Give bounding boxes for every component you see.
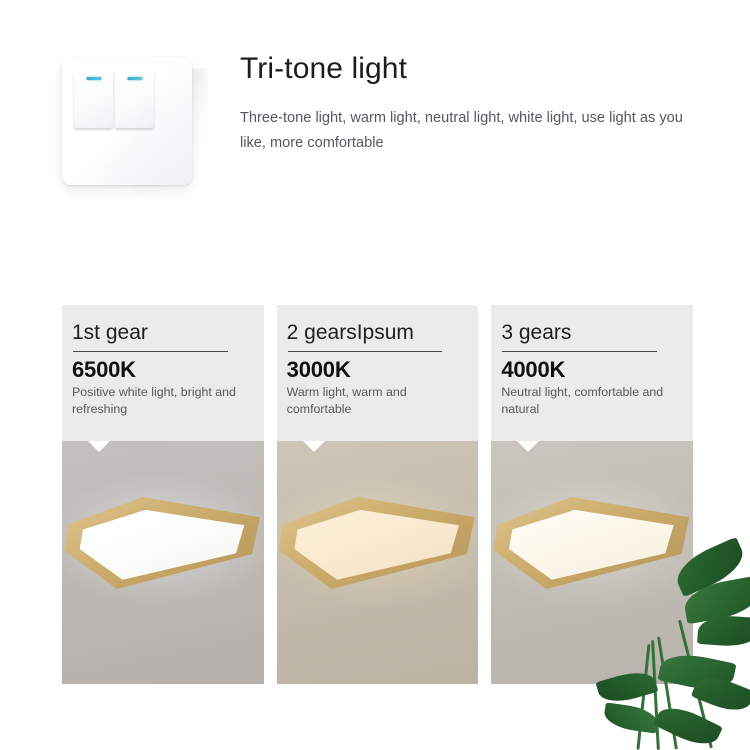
tone-panel-2-description: Warm light, warm and comfortable — [287, 384, 465, 417]
switch-rocker-left — [74, 70, 113, 128]
plant-decoration — [598, 548, 750, 750]
divider — [502, 351, 657, 352]
tone-panel-3-description: Neutral light, comfortable and natural — [501, 384, 679, 417]
ceiling-lamp-icon — [279, 497, 475, 589]
plant-leaf — [603, 702, 660, 733]
tone-panel-1: 1st gear 6500K Positive white light, bri… — [62, 305, 264, 684]
divider — [73, 351, 228, 352]
triangle-pointer-icon — [303, 441, 325, 452]
tone-panel-2-photo — [277, 441, 479, 684]
triangle-pointer-icon — [88, 441, 110, 452]
tone-panel-2-header: 2 gearsIpsum 3000K Warm light, warm and … — [277, 305, 479, 441]
ceiling-lamp-icon — [64, 497, 260, 589]
led-indicator-icon — [127, 77, 142, 80]
page-title: Tri-tone light — [240, 52, 407, 86]
tone-panel-2-kelvin: 3000K — [287, 356, 465, 383]
divider — [288, 351, 443, 352]
tone-panel-3-kelvin: 4000K — [501, 356, 679, 383]
wall-switch-image — [48, 48, 223, 198]
led-indicator-icon — [86, 77, 101, 80]
tone-panel-1-title: 1st gear — [72, 319, 250, 346]
plant-stem — [651, 640, 660, 750]
infographic-canvas: Tri-tone light Three-tone light, warm li… — [0, 0, 750, 750]
tone-panel-2: 2 gearsIpsum 3000K Warm light, warm and … — [277, 305, 479, 684]
tone-panel-1-photo — [62, 441, 264, 684]
tone-panel-3-header: 3 gears 4000K Neutral light, comfortable… — [491, 305, 693, 441]
triangle-pointer-icon — [517, 441, 539, 452]
tone-panel-2-title: 2 gearsIpsum — [287, 319, 465, 346]
page-subtitle: Three-tone light, warm light, neutral li… — [240, 106, 688, 156]
plant-leaf — [653, 699, 723, 750]
tone-panel-1-kelvin: 6500K — [72, 356, 250, 383]
plant-leaf — [596, 667, 659, 708]
tone-panel-3-title: 3 gears — [501, 319, 679, 346]
tone-panel-1-header: 1st gear 6500K Positive white light, bri… — [62, 305, 264, 441]
switch-rocker-right — [115, 70, 154, 128]
switch-rocker-group — [74, 70, 154, 128]
tone-panel-1-description: Positive white light, bright and refresh… — [72, 384, 250, 417]
